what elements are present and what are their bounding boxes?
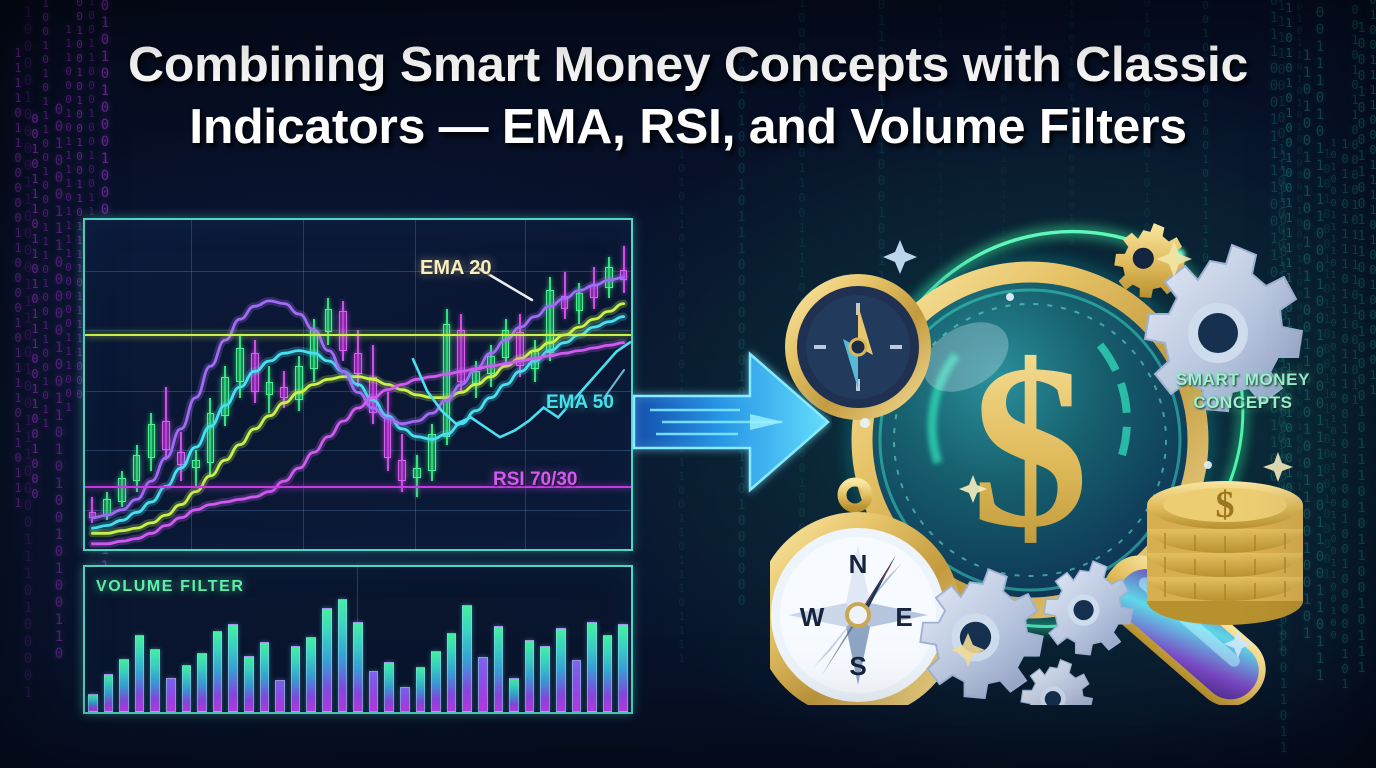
volume-bar <box>556 628 566 712</box>
volume-bar <box>587 622 597 712</box>
ema-curve <box>92 304 623 534</box>
volume-filter-label: VOLUME FILTER <box>96 578 245 596</box>
volume-bar <box>384 662 394 712</box>
volume-bar <box>291 646 301 712</box>
smart-money-illustration: $ <box>770 205 1376 705</box>
volume-bar <box>478 657 488 712</box>
volume-bar <box>416 667 426 712</box>
volume-bar <box>431 651 441 712</box>
volume-bar <box>462 605 472 712</box>
title-line-2: Indicators — EMA, RSI, and Volume Filter… <box>0 96 1376 158</box>
volume-bar <box>322 608 332 712</box>
volume-bar <box>525 640 535 712</box>
volume-bar <box>260 642 270 712</box>
poster-canvas: 1111011000001100001011110110111011000010… <box>0 0 1376 768</box>
coin-dollar-symbol: $ <box>1216 484 1235 526</box>
volume-bar <box>166 678 176 712</box>
ema-curve-glow <box>92 304 623 534</box>
compass-south-label: S <box>849 651 866 681</box>
volume-bar <box>104 674 114 712</box>
smart-money-concepts-text: SMART MONEY CONCEPTS <box>1158 368 1328 414</box>
ema50-label: EMA 50 <box>546 392 614 414</box>
volume-bar <box>572 660 582 712</box>
poster-title: Combining Smart Money Concepts with Clas… <box>0 34 1376 158</box>
volume-bar <box>197 653 207 712</box>
ema20-level-line <box>85 334 631 336</box>
binary-column: 001000111000001001101010010100110 <box>50 102 67 663</box>
volume-bar <box>338 599 348 712</box>
volume-bar <box>447 633 457 712</box>
flow-arrow-icon <box>632 336 832 508</box>
volume-bar <box>244 656 254 713</box>
coin-stack-icon: $ <box>1147 481 1303 625</box>
volume-bar <box>275 680 285 712</box>
volume-bar <box>119 659 129 712</box>
dollar-symbol: $ <box>971 316 1089 576</box>
rsi-label: RSI 70/30 <box>493 469 578 491</box>
volume-bar <box>494 626 504 712</box>
volume-bar <box>540 646 550 712</box>
volume-bar <box>213 631 223 712</box>
binary-column: 00101110110101110011001000 <box>26 112 43 502</box>
ema20-label: EMA 20 <box>420 257 492 280</box>
volume-bar <box>509 678 519 712</box>
volume-bar <box>306 637 316 712</box>
volume-bar <box>603 635 613 712</box>
volume-bar <box>400 687 410 712</box>
compass-east-label: E <box>895 602 912 632</box>
compass-west-label: W <box>800 602 825 632</box>
title-line-1: Combining Smart Money Concepts with Clas… <box>0 34 1376 96</box>
volume-bar <box>228 624 238 712</box>
volume-bar <box>353 622 363 712</box>
compass-north-label: N <box>849 549 868 579</box>
volume-bar <box>135 635 145 712</box>
volume-bar <box>618 624 628 712</box>
volume-bar <box>150 649 160 712</box>
gear-blue-tiny-icon <box>1021 660 1092 705</box>
volume-bar <box>88 694 98 712</box>
volume-bar <box>369 671 379 712</box>
volume-bar <box>182 665 192 712</box>
